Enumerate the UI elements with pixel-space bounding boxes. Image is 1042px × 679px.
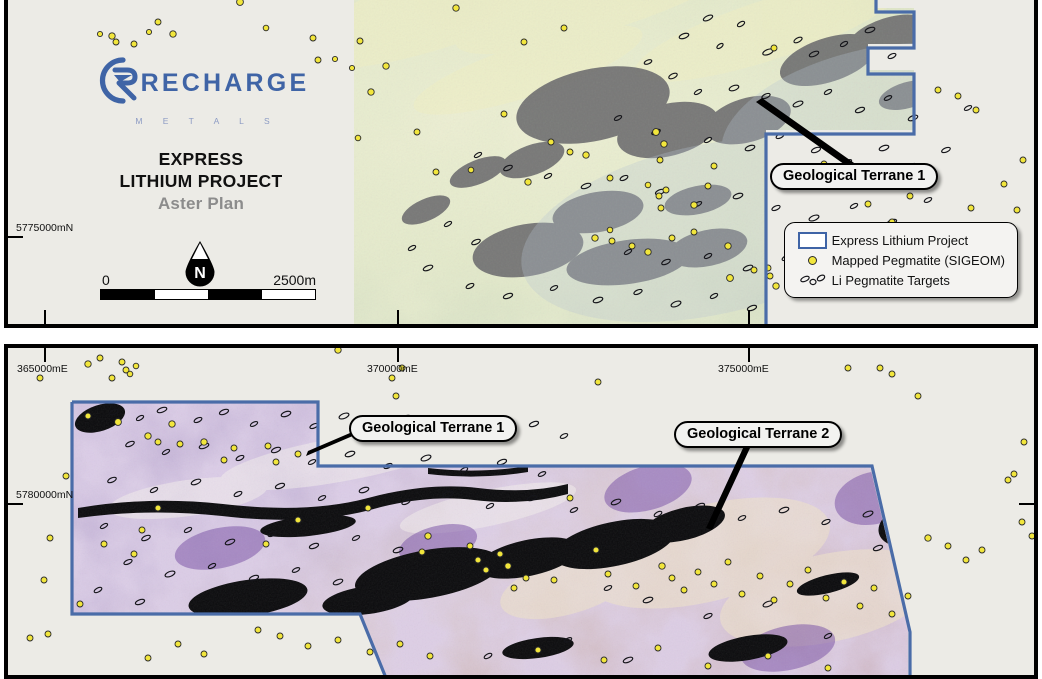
- graticule-tick-north-right: [1019, 503, 1034, 505]
- callout-terrane-1-top: Geological Terrane 1: [770, 163, 938, 190]
- legend-label-project: Express Lithium Project: [832, 233, 969, 248]
- title-line-1: EXPRESS: [70, 148, 332, 170]
- aster-raster-purple: [8, 348, 1034, 675]
- coord-label-375000mE: 375000mE: [718, 363, 769, 375]
- callout-terrane-1-bottom: Geological Terrane 1: [349, 415, 517, 442]
- scale-seg-3: [208, 290, 262, 299]
- scale-bar: 0 2500m: [100, 272, 316, 300]
- title-line-2: LITHIUM PROJECT: [70, 170, 332, 192]
- legend-label-mapped-pegmatite: Mapped Pegmatite (SIGEOM): [832, 253, 1005, 268]
- map-panel-top: 5775000mN RECHARGE M E T A L S: [4, 0, 1038, 328]
- graticule-tick-east-365000-bottom: [44, 348, 46, 362]
- legend-item-mapped-pegmatite: Mapped Pegmatite (SIGEOM): [794, 250, 1005, 270]
- coord-label-365000mE: 365000mE: [17, 363, 68, 375]
- graticule-tick-north-5775000: [8, 236, 23, 238]
- graticule-tick-north-5780000: [8, 503, 23, 505]
- scale-max-label: 2500m: [273, 272, 316, 288]
- project-boundary-swatch-icon: [794, 232, 832, 249]
- title-block: RECHARGE M E T A L S EXPRESS LITHIUM PRO…: [70, 56, 332, 214]
- page-subtitle: Aster Plan: [70, 194, 332, 214]
- yellow-dot-icon: [794, 256, 832, 265]
- graticule-tick-east-375000-top: [748, 310, 750, 324]
- scale-seg-4: [262, 290, 316, 299]
- map-sheet: 5775000mN RECHARGE M E T A L S: [0, 0, 1042, 675]
- coord-label-370000mE: 370000mE: [367, 363, 418, 375]
- logo-subtext: M E T A L S: [82, 116, 332, 126]
- map-panel-bottom: 365000mE 370000mE 375000mE 5780000mN Geo…: [4, 344, 1038, 679]
- graticule-tick-east-375000-bottom: [748, 348, 750, 362]
- logo-wordmark: RECHARGE: [141, 71, 310, 96]
- coord-label-5780000mN: 5780000mN: [16, 489, 73, 501]
- scale-bar-labels: 0 2500m: [100, 272, 316, 289]
- map-panel-top-inner: 5775000mN RECHARGE M E T A L S: [8, 0, 1034, 324]
- legend-item-li-targets: Li Pegmatite Targets: [794, 270, 1005, 290]
- graticule-tick-east-365000-top: [44, 310, 46, 324]
- legend-label-li-targets: Li Pegmatite Targets: [832, 273, 950, 288]
- page-title: EXPRESS LITHIUM PROJECT: [70, 148, 332, 193]
- callout-terrane-2-bottom: Geological Terrane 2: [674, 421, 842, 448]
- coord-label-5775000mN: 5775000mN: [16, 222, 73, 234]
- scale-seg-1: [101, 290, 155, 299]
- scale-seg-2: [155, 290, 209, 299]
- legend-item-project: Express Lithium Project: [794, 230, 1005, 250]
- scale-bar-graphic: [100, 289, 316, 300]
- graticule-tick-east-370000-bottom: [397, 348, 399, 362]
- map-panel-bottom-inner: 365000mE 370000mE 375000mE 5780000mN Geo…: [8, 348, 1034, 675]
- graticule-tick-east-370000-top: [397, 310, 399, 324]
- scale-min-label: 0: [102, 272, 110, 288]
- map-legend: Express Lithium Project Mapped Pegmatite…: [784, 222, 1018, 298]
- recharge-metals-logo: RECHARGE: [70, 56, 332, 111]
- pegmatite-ellipses-icon: [794, 273, 832, 287]
